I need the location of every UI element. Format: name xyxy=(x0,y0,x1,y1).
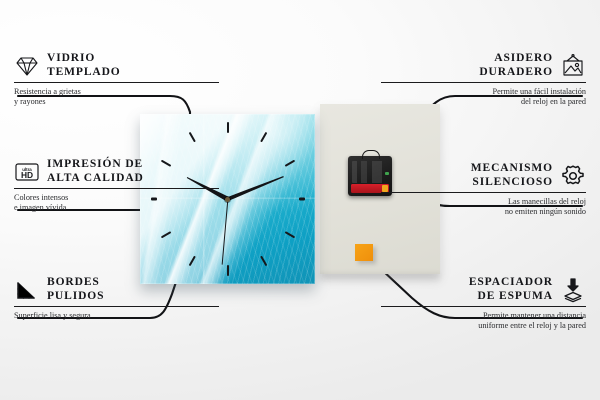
ultra-hd-icon: ultra HD xyxy=(14,159,40,185)
polished-edges-icon xyxy=(14,277,40,303)
feature-title: IMPRESIÓN DE ALTA CALIDAD xyxy=(47,158,144,185)
gear-icon xyxy=(560,163,586,189)
feature-bordes-pulidos: BORDES PULIDOS Superficie lisa y segura xyxy=(14,276,219,321)
divider xyxy=(14,306,219,307)
feature-title: VIDRIO TEMPLADO xyxy=(47,52,121,79)
feature-description: Resistencia a grietas y rayones xyxy=(14,87,219,108)
feature-description: Superficie lisa y segura xyxy=(14,311,219,321)
divider xyxy=(381,82,586,83)
feature-espaciador-espuma: ESPACIADOR DE ESPUMA Permite mantener un… xyxy=(381,276,586,332)
feature-title: ESPACIADOR DE ESPUMA xyxy=(469,276,553,303)
divider xyxy=(381,306,586,307)
foam-spacer xyxy=(355,244,373,261)
feature-description: Colores intensos e imagen vívida xyxy=(14,193,219,214)
feature-title: MECANISMO SILENCIOSO xyxy=(471,162,553,189)
divider xyxy=(14,188,219,189)
divider xyxy=(381,192,586,193)
diamond-icon xyxy=(14,53,40,79)
infographic-stage: VIDRIO TEMPLADO Resistencia a grietas y … xyxy=(0,0,600,400)
feature-title: ASIDERO DURADERO xyxy=(479,52,553,79)
hanger-hook-icon xyxy=(362,150,380,159)
feature-title: BORDES PULIDOS xyxy=(47,276,104,303)
feature-impresion-alta-calidad: ultra HD IMPRESIÓN DE ALTA CALIDAD Color… xyxy=(14,158,219,214)
feature-description: Las manecillas del reloj no emiten ningú… xyxy=(381,197,586,218)
feature-mecanismo-silencioso: MECANISMO SILENCIOSO Las manecillas del … xyxy=(381,162,586,218)
feature-description: Permite mantener una distancia uniforme … xyxy=(381,311,586,332)
divider xyxy=(14,82,219,83)
svg-text:HD: HD xyxy=(21,170,33,180)
picture-hanger-icon xyxy=(560,53,586,79)
foam-spacer-icon xyxy=(560,277,586,303)
feature-asidero-duradero: ASIDERO DURADERO Permite una fácil insta… xyxy=(381,52,586,108)
clock-center-cap xyxy=(225,197,230,202)
feature-vidrio-templado: VIDRIO TEMPLADO Resistencia a grietas y … xyxy=(14,52,219,108)
feature-description: Permite una fácil instalación del reloj … xyxy=(381,87,586,108)
